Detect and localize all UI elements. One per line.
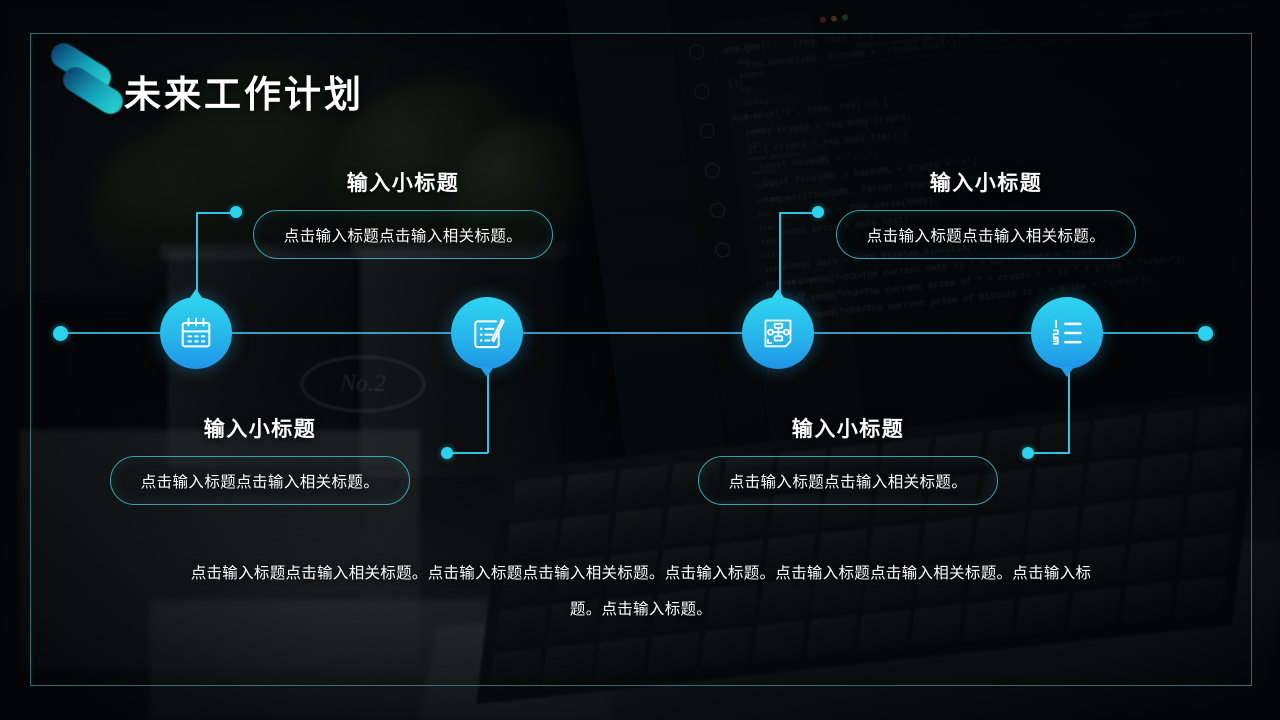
numbered-list-icon — [1047, 313, 1087, 353]
timeline-end-dot-left — [53, 326, 68, 341]
card-body-pill[interactable]: 点击输入标题点击输入相关标题。 — [698, 456, 998, 505]
flowchart-document-icon — [758, 313, 798, 353]
calendar-icon — [176, 313, 216, 353]
node-pointer — [480, 367, 494, 377]
card-title: 输入小标题 — [698, 413, 998, 443]
connector-1-knob — [230, 206, 242, 218]
card-title: 输入小标题 — [253, 167, 553, 197]
timeline-node-calendar[interactable] — [160, 297, 232, 369]
connector-4-horizontal — [1030, 452, 1070, 454]
timeline-node-numbered-list[interactable] — [1031, 297, 1103, 369]
connector-1-vertical — [196, 212, 198, 300]
card-top-left: 输入小标题 点击输入标题点击输入相关标题。 — [253, 167, 553, 259]
page-title: 未来工作计划 — [124, 64, 364, 118]
card-body-pill[interactable]: 点击输入标题点击输入相关标题。 — [836, 210, 1136, 259]
node-pointer — [771, 289, 785, 299]
card-body-pill[interactable]: 点击输入标题点击输入相关标题。 — [110, 456, 410, 505]
footer-paragraph: 点击输入标题点击输入相关标题。点击输入标题点击输入相关标题。点击输入标题。点击输… — [190, 556, 1092, 628]
card-top-right: 输入小标题 点击输入标题点击输入相关标题。 — [836, 167, 1136, 259]
double-pill-logo-icon — [46, 52, 124, 114]
card-bottom-left: 输入小标题 点击输入标题点击输入相关标题。 — [110, 413, 410, 505]
connector-2-horizontal — [448, 452, 488, 454]
card-title: 输入小标题 — [110, 413, 410, 443]
connector-4-knob — [1022, 447, 1034, 459]
checklist-edit-icon — [467, 313, 507, 353]
node-pointer — [1060, 367, 1074, 377]
slide-canvas: No.2 Code File Edit Selection View Go De… — [0, 0, 1280, 720]
card-title: 输入小标题 — [836, 167, 1136, 197]
card-body-pill[interactable]: 点击输入标题点击输入相关标题。 — [253, 210, 553, 259]
card-bottom-right: 输入小标题 点击输入标题点击输入相关标题。 — [698, 413, 998, 505]
connector-2-vertical — [487, 368, 489, 453]
connector-2-knob — [441, 447, 453, 459]
timeline-node-checklist[interactable] — [451, 297, 523, 369]
timeline-end-dot-right — [1198, 326, 1213, 341]
timeline-node-flowchart[interactable] — [742, 297, 814, 369]
connector-3-knob — [812, 206, 824, 218]
node-pointer — [189, 289, 203, 299]
connector-3-vertical — [779, 212, 781, 300]
connector-4-vertical — [1068, 368, 1070, 453]
